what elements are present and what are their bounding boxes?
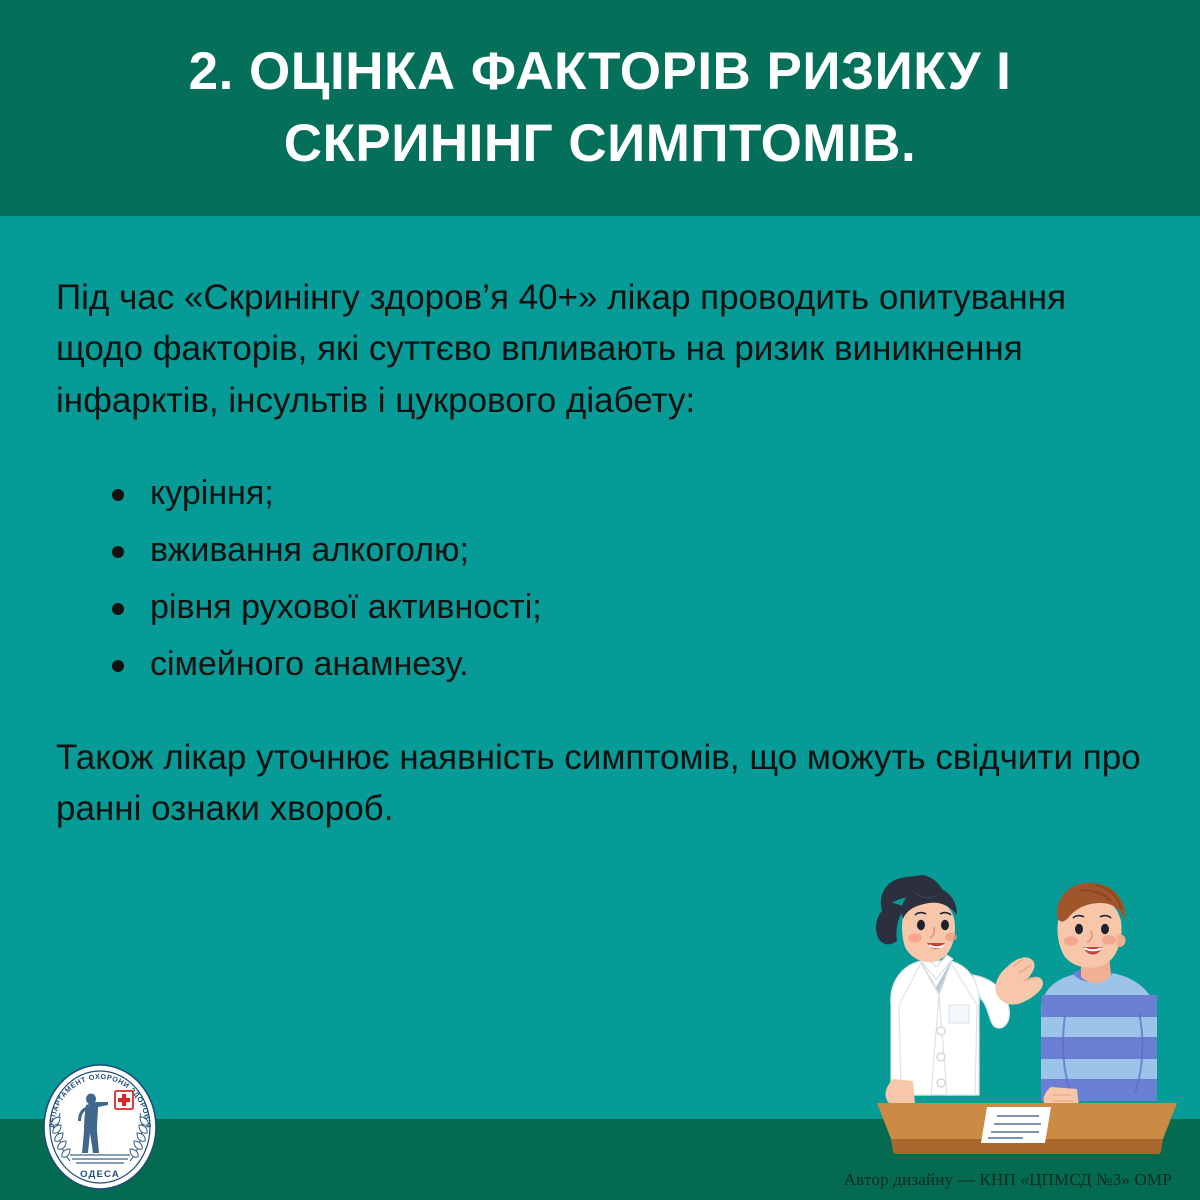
list-item: куріння; (88, 476, 988, 510)
bullet-icon (112, 489, 124, 501)
red-cross-icon (115, 1091, 133, 1109)
odesa-health-department-logo: ДЕПАРТАМЕНТ ОХОРОНИ ЗДОРОВ'Я (36, 1055, 164, 1195)
document-on-desk (981, 1107, 1051, 1143)
patient-eye-right (1101, 924, 1109, 934)
doctor-eye-right (941, 920, 949, 930)
logo-emblem-icon: ДЕПАРТАМЕНТ ОХОРОНИ ЗДОРОВ'Я (36, 1055, 164, 1195)
list-item-label: куріння; (150, 474, 274, 512)
doctor-eye-left (917, 920, 925, 930)
list-item-label: сімейного анамнезу. (150, 645, 469, 683)
patient-eye-left (1075, 924, 1083, 934)
patient-figure (1041, 883, 1157, 1107)
infographic-slide: 2. ОЦІНКА ФАКТОРІВ РИЗИКУ І СКРИНІНГ СИМ… (0, 0, 1200, 1200)
list-item: вживання алкоголю; (88, 533, 988, 567)
list-item-label: вживання алкоголю; (150, 531, 469, 569)
design-credit: Автор дизайну — КНП «ЦПМСД №3» ОМР (844, 1170, 1172, 1190)
list-item: сімейного анамнезу. (88, 647, 988, 681)
illustration-scene (855, 855, 1200, 1155)
bullet-icon (112, 660, 124, 672)
list-item-label: рівня рухової активності; (150, 588, 542, 626)
page-title: 2. ОЦІНКА ФАКТОРІВ РИЗИКУ І СКРИНІНГ СИМ… (70, 36, 1130, 179)
list-item: рівня рухової активності; (88, 590, 988, 624)
doctor-figure (876, 875, 1043, 1103)
bullet-icon (112, 603, 124, 615)
logo-city-text: ОДЕСА (80, 1169, 120, 1180)
desk (877, 1103, 1177, 1154)
sweater-stripes (1041, 995, 1157, 1101)
bullet-icon (112, 546, 124, 558)
doctor-patient-illustration (855, 855, 1200, 1155)
risk-factor-list: куріння; вживання алкоголю; рівня рухово… (88, 476, 988, 704)
closing-paragraph: Також лікар уточнює наявність симптомів,… (56, 732, 1166, 835)
intro-paragraph: Під час «Скринінгу здоров’я 40+» лікар п… (56, 272, 1156, 426)
header-band: 2. ОЦІНКА ФАКТОРІВ РИЗИКУ І СКРИНІНГ СИМ… (0, 0, 1200, 216)
content-area: Під час «Скринінгу здоров’я 40+» лікар п… (56, 272, 1156, 426)
